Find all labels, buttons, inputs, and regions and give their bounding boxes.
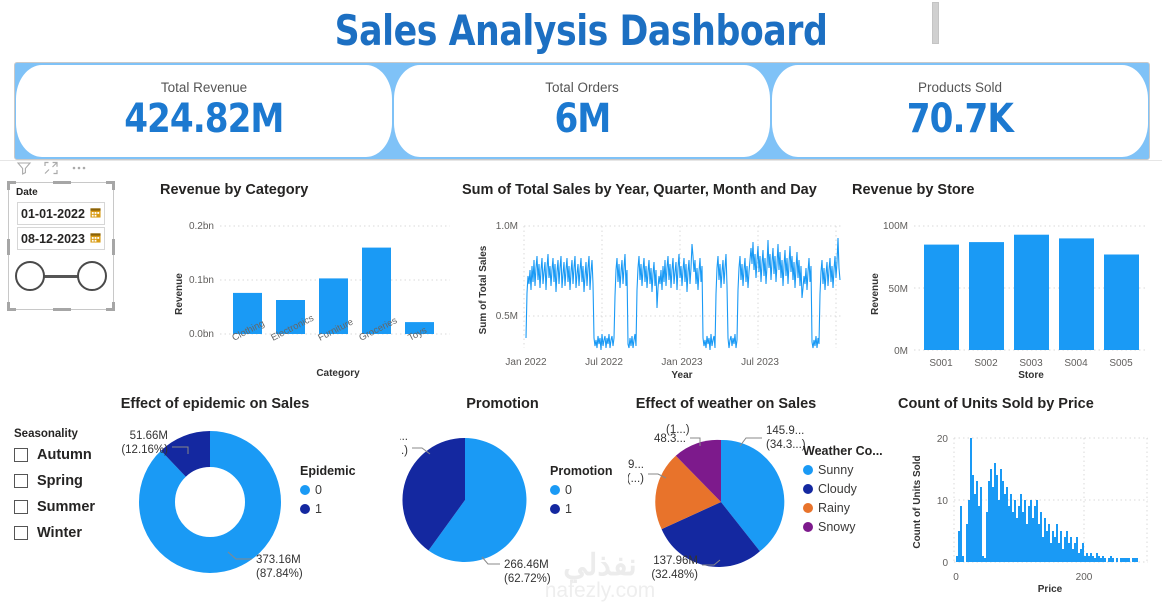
legend-title: Promotion: [550, 464, 613, 478]
chart-promotion[interactable]: Promotion 158.3... (37.2...) 266.46M (62…: [400, 396, 650, 596]
chart-title: Sum of Total Sales by Year, Quarter, Mon…: [462, 182, 852, 198]
chart-count-units-by-price[interactable]: Count of Units Sold by Price 20 10 0 Cou…: [898, 396, 1152, 596]
y-tick-2: 20: [937, 434, 949, 445]
slice-snowy-percent-text: (1...): [666, 424, 690, 436]
x-tick-2: S003: [1019, 358, 1043, 369]
slice-1-value: 158.3...: [400, 431, 408, 443]
x-tick-1: Jul 2022: [585, 357, 623, 368]
kpi-label: Products Sold: [918, 80, 1002, 95]
chart-canvas: 100M 50M 0M Revenue S001 S002 S003 S004 …: [852, 198, 1152, 378]
legend-swatch: [803, 503, 813, 513]
x-tick-0: S001: [929, 358, 953, 369]
bar-s001: [924, 245, 959, 350]
slice-0-value: 373.16M: [256, 554, 301, 566]
x-tick-labels: Jan 2022 Jul 2022 Jan 2023 Jul 2023: [505, 357, 779, 368]
chart-title: Effect of weather on Sales: [628, 396, 824, 412]
legend-item-sunny[interactable]: Sunny: [803, 463, 883, 477]
visual-toolbar: [16, 160, 88, 181]
chart-canvas: 20 10 0 Count of Units Sold 0 200 Price: [898, 412, 1152, 592]
date-start-field[interactable]: 01-01-2022: [17, 202, 105, 225]
kpi-value: 6M: [554, 96, 610, 142]
chart-legend: Promotion 0 1: [550, 464, 613, 516]
gridlines: [524, 226, 842, 348]
legend-swatch: [803, 465, 813, 475]
chart-legend: Weather Co... Sunny Cloudy Rainy Snowy: [803, 444, 883, 534]
slice-rainy-percent: (...): [628, 473, 644, 485]
chart-title: Effect of epidemic on Sales: [110, 396, 320, 412]
seasonality-label: Autumn: [37, 447, 92, 463]
x-axis-title: Category: [316, 368, 360, 378]
legend-swatch: [550, 485, 560, 495]
bar-s005: [1104, 255, 1139, 351]
y-tick-0: 0.5M: [496, 311, 518, 322]
histogram-area: [956, 438, 1138, 562]
chart-title: Revenue by Store: [852, 182, 1152, 198]
date-end-field[interactable]: 08-12-2023: [17, 227, 105, 250]
x-tick-3: S004: [1064, 358, 1088, 369]
filter-icon[interactable]: [16, 160, 32, 181]
kpi-label: Total Orders: [545, 80, 619, 95]
y-tick-0: 0: [942, 558, 948, 569]
legend-swatch: [803, 522, 813, 532]
chart-legend: Epidemic 0 1: [300, 464, 356, 516]
kpi-card-total-orders[interactable]: Total Orders 6M: [394, 65, 770, 157]
bar-s003: [1014, 235, 1049, 350]
bar-s002: [969, 242, 1004, 350]
slice-cloudy-percent: (32.48%): [651, 569, 698, 581]
x-tick-1: 200: [1076, 572, 1093, 583]
y-axis-title: Revenue: [870, 273, 881, 315]
slice-1-percent: (12.16%): [121, 444, 168, 456]
range-track: [41, 275, 81, 278]
x-tick-3: Jul 2023: [741, 357, 779, 368]
x-tick-4: S005: [1109, 358, 1133, 369]
pie-slices[interactable]: [655, 440, 784, 567]
legend-label: Snowy: [818, 520, 856, 534]
checkbox-icon[interactable]: [14, 500, 28, 514]
legend-item-cloudy[interactable]: Cloudy: [803, 482, 883, 496]
legend-item-0[interactable]: 0: [550, 483, 613, 497]
date-slicer-title: Date: [9, 183, 113, 200]
header-divider: [0, 160, 1162, 161]
legend-item-1[interactable]: 1: [300, 502, 356, 516]
checkbox-icon[interactable]: [14, 474, 28, 488]
y-tick-0: 0.0bn: [189, 329, 214, 340]
y-tick-1: 50M: [889, 284, 908, 295]
slice-1-value: 51.66M: [130, 430, 168, 442]
chart-effect-of-epidemic[interactable]: Effect of epidemic on Sales 51.66M (12.1…: [110, 396, 410, 596]
bars[interactable]: [924, 235, 1139, 350]
legend-title: Weather Co...: [803, 444, 883, 458]
kpi-band: Total Revenue 424.82M Total Orders 6M Pr…: [14, 62, 1150, 160]
y-axis-title: Sum of Total Sales: [478, 245, 489, 334]
x-tick-2: Jan 2023: [661, 357, 703, 368]
calendar-icon[interactable]: [90, 207, 101, 221]
seasonality-label: Spring: [37, 473, 83, 489]
bar-s004: [1059, 238, 1094, 350]
slice-rainy-value: 9...: [628, 459, 644, 471]
y-tick-0: 0M: [894, 346, 908, 357]
range-handle-end[interactable]: [77, 261, 107, 291]
y-tick-2: 0.2bn: [189, 221, 214, 232]
chart-canvas: 1.0M 0.5M Sum of Total Sales Jan 2022 Ju…: [462, 198, 852, 378]
calendar-icon[interactable]: [90, 232, 101, 246]
kpi-label: Total Revenue: [161, 80, 247, 95]
x-tick-1: S002: [974, 358, 998, 369]
x-tick-0: Jan 2022: [505, 357, 547, 368]
kpi-card-total-revenue[interactable]: Total Revenue 424.82M: [16, 65, 392, 157]
legend-swatch: [550, 504, 560, 514]
seasonality-label: Summer: [37, 499, 95, 515]
legend-swatch: [300, 504, 310, 514]
legend-label: 1: [565, 502, 572, 516]
legend-label: 1: [315, 502, 322, 516]
kpi-value: 70.7K: [907, 96, 1013, 142]
checkbox-icon[interactable]: [14, 448, 28, 462]
legend-item-snowy[interactable]: Snowy: [803, 520, 883, 534]
legend-label: Sunny: [818, 463, 853, 477]
checkbox-icon[interactable]: [14, 526, 28, 540]
chart-title: Revenue by Category: [160, 182, 460, 198]
slice-sunny-value: 145.9...: [766, 425, 804, 437]
chart-revenue-by-store[interactable]: Revenue by Store 100M 50M 0M Revenue S00…: [852, 182, 1152, 382]
bars[interactable]: [233, 248, 434, 334]
focus-mode-icon[interactable]: [43, 160, 59, 181]
date-range-slider[interactable]: [19, 259, 103, 293]
dashboard-page: Sales Analysis Dashboard Total Revenue 4…: [0, 0, 1162, 605]
y-tick-1: 10: [937, 496, 949, 507]
y-tick-1: 1.0M: [496, 221, 518, 232]
slice-0-percent: (62.72%): [504, 573, 551, 585]
legend-label: Cloudy: [818, 482, 857, 496]
legend-label: 0: [315, 483, 322, 497]
legend-label: 0: [565, 483, 572, 497]
date-start-value: 01-01-2022: [21, 207, 85, 221]
chart-sum-total-sales[interactable]: Sum of Total Sales by Year, Quarter, Mon…: [462, 182, 852, 382]
page-scrollbar[interactable]: [932, 2, 939, 44]
chart-effect-of-weather[interactable]: Effect of weather on Sales 145.9... (34.…: [628, 396, 918, 596]
legend-swatch: [300, 485, 310, 495]
slice-cloudy-value: 137.96M: [653, 555, 698, 567]
legend-item-rainy[interactable]: Rainy: [803, 501, 883, 515]
x-tick-labels: S001 S002 S003 S004 S005: [929, 358, 1133, 369]
sales-series: [526, 238, 840, 350]
more-options-icon[interactable]: [70, 160, 88, 181]
donut-slices[interactable]: [157, 449, 263, 555]
legend-swatch: [803, 484, 813, 494]
legend-item-1[interactable]: 1: [550, 502, 613, 516]
page-title: Sales Analysis Dashboard: [46, 6, 1115, 55]
chart-title: Promotion: [400, 396, 605, 412]
y-tick-2: 100M: [883, 221, 908, 232]
y-tick-1: 0.1bn: [189, 275, 214, 286]
x-axis-title: Price: [1038, 584, 1063, 592]
slice-0-value: 266.46M: [504, 559, 549, 571]
kpi-card-products-sold[interactable]: Products Sold 70.7K: [772, 65, 1148, 157]
chart-canvas: 0.2bn 0.1bn 0.0bn Revenue Clothing Elect…: [160, 198, 460, 378]
slice-sunny-percent: (34.3...): [766, 439, 806, 451]
seasonality-label: Winter: [37, 525, 82, 541]
y-axis-title: Count of Units Sold: [912, 455, 923, 548]
legend-title: Epidemic: [300, 464, 356, 478]
chart-title: Count of Units Sold by Price: [898, 396, 1152, 412]
date-end-value: 08-12-2023: [21, 232, 85, 246]
x-axis-title: Year: [671, 370, 692, 378]
pie-slices[interactable]: [402, 438, 526, 562]
x-axis-title: Store: [1018, 370, 1044, 378]
slice-1-percent: (37.2...): [400, 445, 408, 457]
legend-label: Rainy: [818, 501, 850, 515]
legend-item-0[interactable]: 0: [300, 483, 356, 497]
x-tick-0: 0: [953, 572, 959, 583]
chart-canvas: 51.66M (12.16%) 373.16M (87.84%): [110, 412, 410, 587]
date-slicer[interactable]: Date 01-01-2022 08-12-2023: [8, 182, 114, 310]
x-tick-labels: 0 200: [953, 572, 1093, 583]
y-axis-title: Revenue: [174, 273, 185, 315]
chart-revenue-by-category[interactable]: Revenue by Category 0.2bn 0.1bn 0.0bn Re…: [160, 182, 460, 382]
kpi-value: 424.82M: [124, 96, 283, 142]
chart-canvas: 158.3... (37.2...) 266.46M (62.72%): [400, 412, 650, 587]
slice-0-percent: (87.84%): [256, 568, 303, 580]
range-handle-start[interactable]: [15, 261, 45, 291]
